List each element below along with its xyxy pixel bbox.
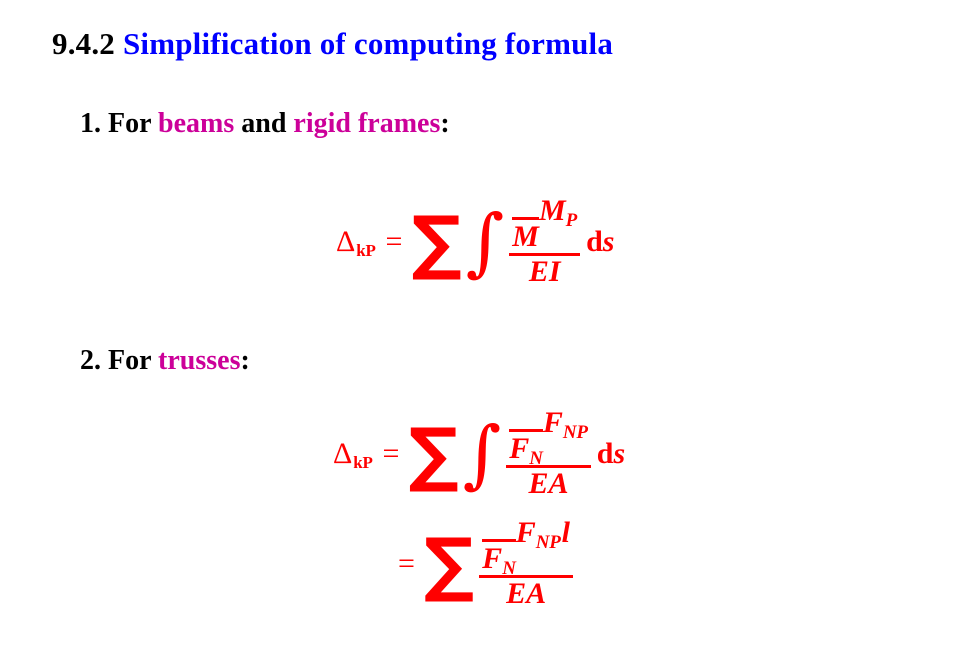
formula-1-m-p-sub: P [566, 211, 577, 230]
formula-1-overbar-group: M [512, 217, 539, 252]
formula-3-overbar-group: FN [482, 539, 516, 574]
section-1-prefix: 1. For [80, 108, 158, 139]
formula-2-fnp-sub: NP [563, 423, 588, 442]
formula-3-fnp: F [516, 518, 536, 548]
summation-icon: ∑ [408, 429, 458, 479]
summation-icon: ∑ [411, 217, 461, 267]
section-heading-trusses: 2. For trusses: [80, 345, 250, 377]
formula-1-equals: = [386, 227, 403, 257]
formula-3-length-symbol: l [562, 518, 570, 548]
formula-3-numerator: FN FNPl [479, 518, 573, 574]
formula-2-denominator: EA [526, 469, 572, 499]
title-number: 9.4.2 [52, 26, 115, 61]
formula-2-equals: = [383, 439, 400, 469]
formula-2-delta-symbol: Δ [333, 439, 352, 469]
formula-2-fraction: FN FNP EA [506, 408, 591, 499]
formula-2-lhs: ΔkP [333, 439, 373, 469]
formula-1-fraction: M MP EI [509, 196, 580, 287]
section-2-prefix: 2. For [80, 345, 158, 376]
section-2-suffix: : [240, 345, 249, 376]
formula-2-delta-subscript: kP [353, 454, 372, 471]
formula-1-delta-symbol: Δ [336, 227, 355, 257]
formula-1-delta-subscript: kP [356, 242, 375, 259]
formula-3-fn-bar: F [482, 544, 502, 574]
formula-3-fn-bar-sub: N [502, 559, 516, 578]
formula-2-fnp: F [543, 408, 563, 438]
section-1-suffix: : [440, 108, 449, 139]
section-2-keyword-trusses: trusses [158, 345, 240, 376]
truss-deflection-formula-summed: = ∑ FN FNPl EA [398, 518, 576, 609]
formula-1-m-bar: M [512, 222, 539, 252]
summation-icon: ∑ [424, 539, 474, 589]
section-1-middle: and [234, 108, 293, 139]
title-text: Simplification of computing formula [123, 26, 613, 61]
page-title: 9.4.2 Simplification of computing formul… [52, 26, 613, 62]
formula-2-overbar-group: FN [509, 429, 543, 464]
formula-1-m-p: M [539, 196, 566, 226]
formula-2-differential: ds [597, 439, 625, 469]
formula-1-differential: ds [586, 227, 614, 257]
truss-deflection-formula: ΔkP = ∑ ∫ FN FNP EA ds [333, 408, 625, 499]
formula-1-numerator: M MP [509, 196, 580, 252]
formula-2-fn-bar: F [509, 434, 529, 464]
formula-3-fraction: FN FNPl EA [479, 518, 573, 609]
formula-3-equals: = [398, 549, 415, 579]
formula-1-lhs: ΔkP [336, 227, 376, 257]
beam-deflection-formula: ΔkP = ∑ ∫ M MP EI ds [336, 196, 614, 287]
section-1-keyword-rigid-frames: rigid frames [293, 108, 440, 139]
slide-canvas: 9.4.2 Simplification of computing formul… [0, 0, 960, 661]
section-heading-beams: 1. For beams and rigid frames: [80, 108, 450, 140]
formula-2-fn-bar-sub: N [529, 449, 543, 468]
formula-3-denominator: EA [503, 579, 549, 609]
integral-icon: ∫ [466, 220, 505, 266]
integral-icon: ∫ [463, 432, 502, 478]
formula-2-numerator: FN FNP [506, 408, 591, 464]
section-1-keyword-beams: beams [158, 108, 234, 139]
formula-1-denominator: EI [526, 257, 564, 287]
formula-3-fnp-sub: NP [536, 533, 561, 552]
